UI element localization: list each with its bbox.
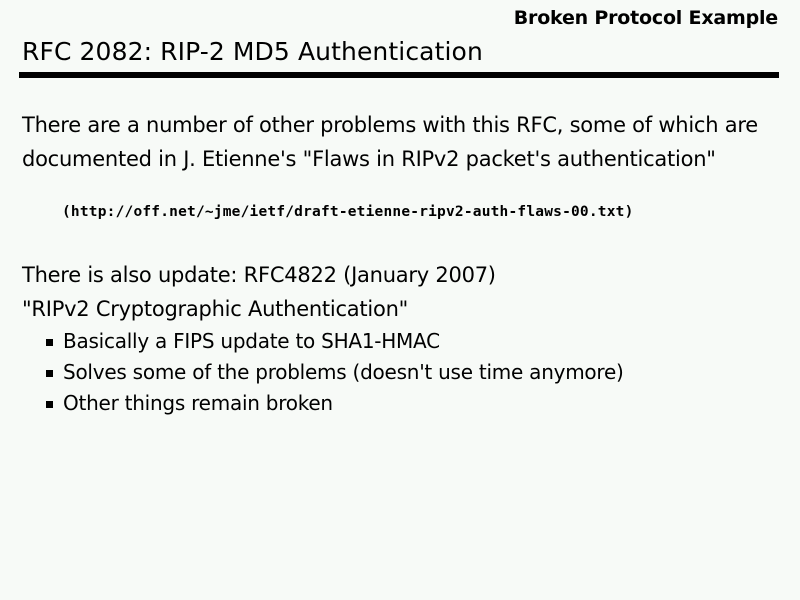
slide-title: RFC 2082: RIP-2 MD5 Authentication bbox=[22, 38, 483, 66]
bullet-list: Basically a FIPS update to SHA1-HMAC Sol… bbox=[0, 326, 624, 419]
update-paragraph-block: There is also update: RFC4822 (January 2… bbox=[0, 258, 496, 326]
list-item: Other things remain broken bbox=[0, 388, 624, 419]
reference-url: (http://off.net/~jme/ietf/draft-etienne-… bbox=[62, 204, 634, 220]
intro-paragraph-line-2: documented in J. Etienne's "Flaws in RIP… bbox=[0, 142, 758, 176]
square-bullet-icon bbox=[46, 339, 53, 346]
update-paragraph-line-1: There is also update: RFC4822 (January 2… bbox=[0, 258, 496, 292]
slide-header-label: Broken Protocol Example bbox=[514, 8, 778, 29]
list-item: Basically a FIPS update to SHA1-HMAC bbox=[0, 326, 624, 357]
update-paragraph-line-2: "RIPv2 Cryptographic Authentication" bbox=[0, 292, 496, 326]
title-underline-rule bbox=[19, 72, 779, 78]
list-item-label: Other things remain broken bbox=[63, 388, 333, 419]
slide-canvas: Broken Protocol Example RFC 2082: RIP-2 … bbox=[0, 0, 800, 600]
square-bullet-icon bbox=[46, 401, 53, 408]
list-item-label: Solves some of the problems (doesn't use… bbox=[63, 357, 624, 388]
square-bullet-icon bbox=[46, 370, 53, 377]
list-item: Solves some of the problems (doesn't use… bbox=[0, 357, 624, 388]
list-item-label: Basically a FIPS update to SHA1-HMAC bbox=[63, 326, 440, 357]
intro-paragraph-block: There are a number of other problems wit… bbox=[0, 108, 758, 176]
intro-paragraph-line-1: There are a number of other problems wit… bbox=[0, 108, 758, 142]
